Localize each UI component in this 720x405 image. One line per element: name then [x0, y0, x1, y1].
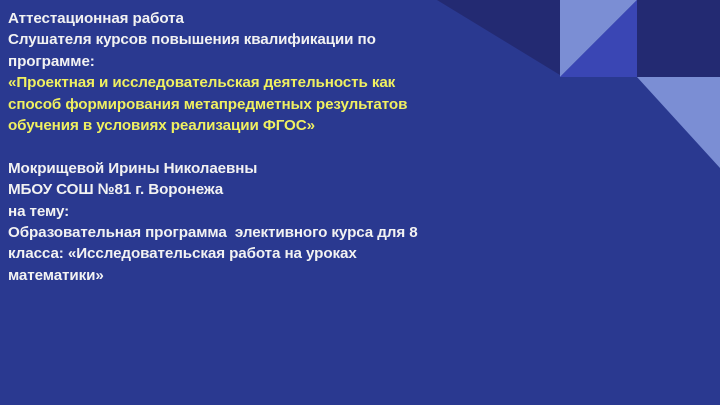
square-split-medium-shape [560, 0, 637, 77]
slide-line-6: обучения в условиях реализации ФГОС» [8, 115, 568, 136]
slide-line-4: «Проектная и исследовательская деятельно… [8, 72, 568, 93]
square-split-light-shape [560, 0, 637, 77]
slide-line-5: способ формирования метапредметных резул… [8, 94, 568, 115]
title-slide: Аттестационная работа Слушателя курсов п… [0, 0, 720, 405]
light-triangle-large-shape [637, 77, 720, 168]
slide-line-10: Образовательная программа элективного ку… [8, 222, 568, 243]
slide-line-9: на тему: [8, 201, 568, 222]
slide-line-2: Слушателя курсов повышения квалификации … [8, 29, 568, 50]
slide-line-7: Мокрищевой Ирины Николаевны [8, 158, 568, 179]
slide-line-8: МБОУ СОШ №81 г. Воронежа [8, 179, 568, 200]
slide-line-11: класса: «Исследовательская работа на уро… [8, 243, 568, 264]
slide-line-12: математики» [8, 265, 568, 286]
slide-line-1: Аттестационная работа [8, 8, 568, 29]
slide-text-block: Аттестационная работа Слушателя курсов п… [8, 8, 568, 286]
slide-line-spacer [8, 136, 568, 157]
slide-line-3: программе: [8, 51, 568, 72]
navy-block-right-shape [637, 0, 720, 77]
